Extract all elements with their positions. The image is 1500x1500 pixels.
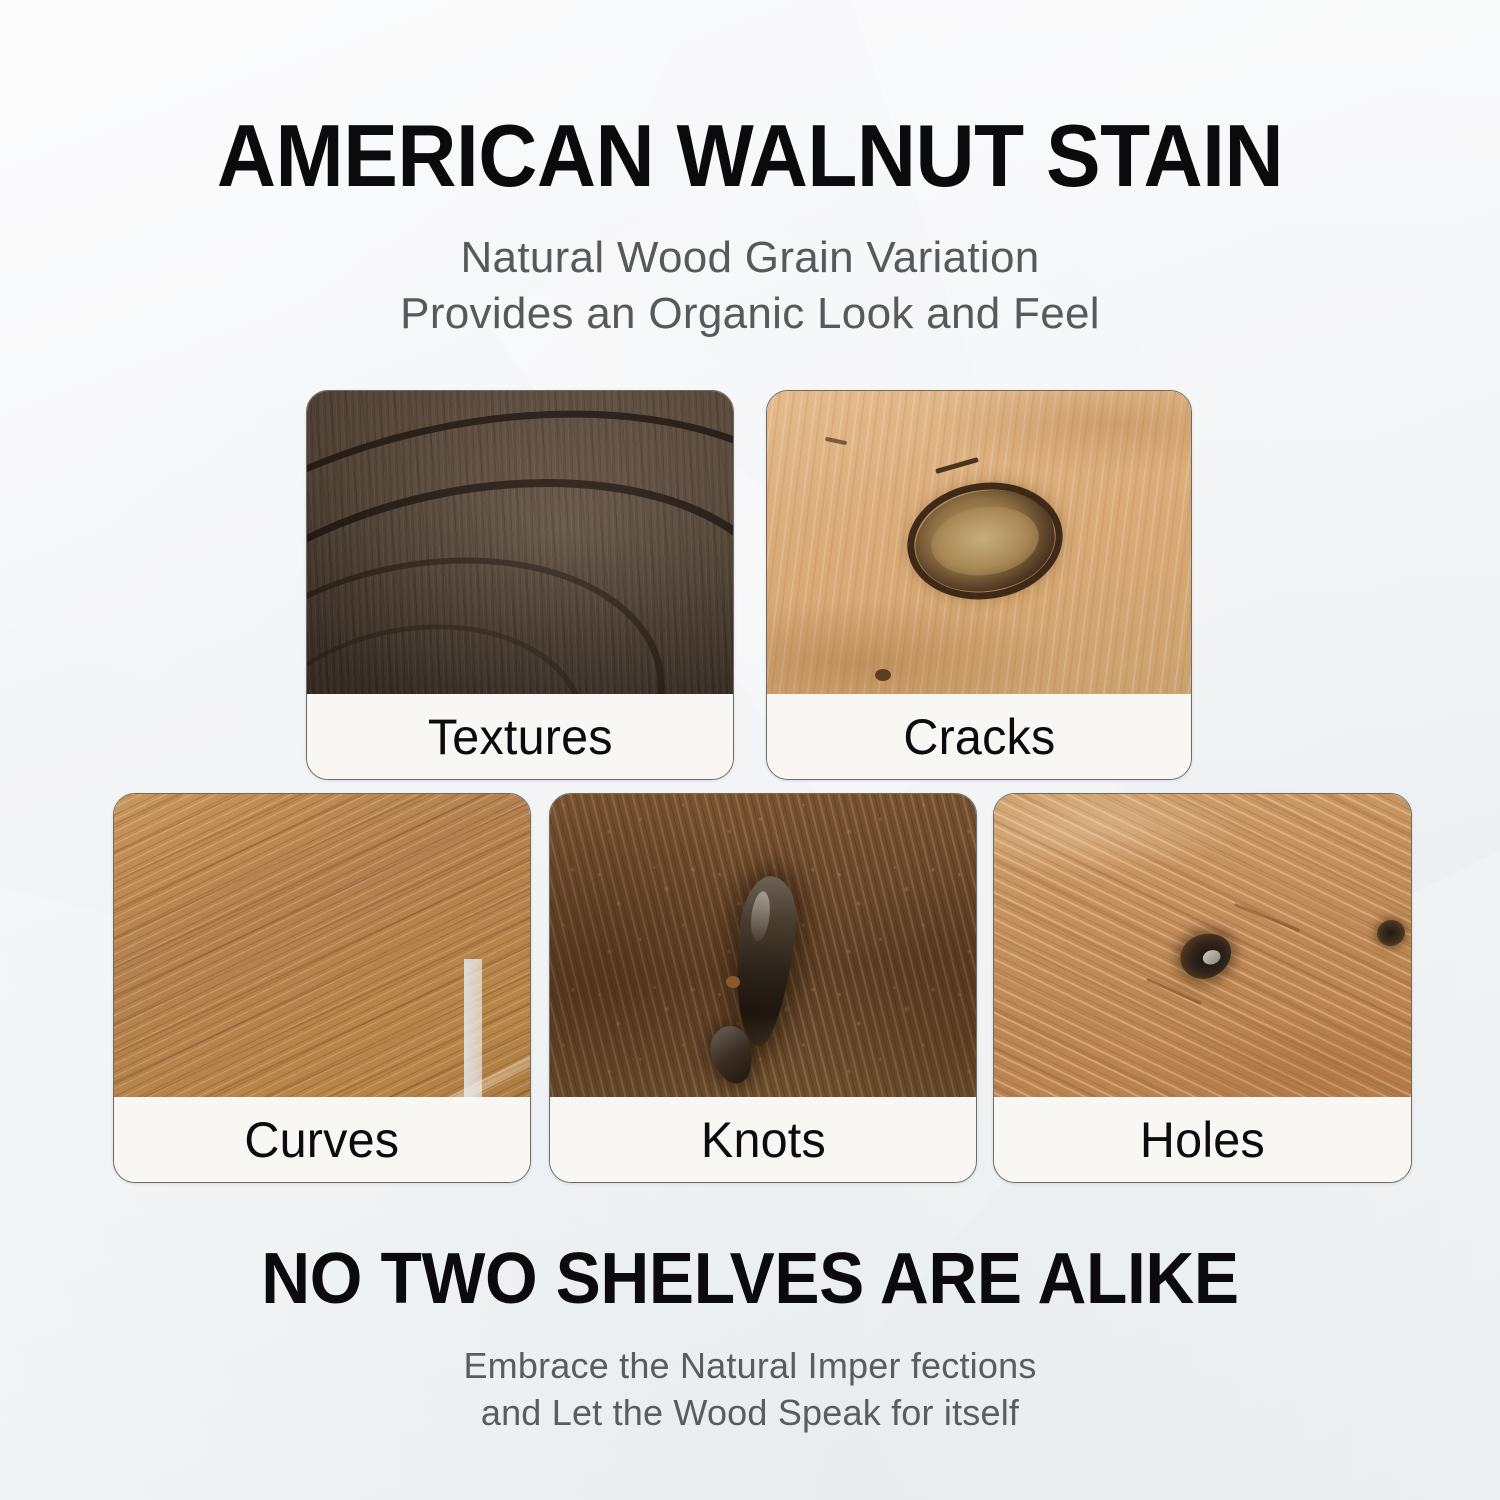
card-caption-textures: Textures (307, 694, 733, 779)
card-caption-holes: Holes (994, 1097, 1411, 1182)
crack-mark (875, 669, 891, 681)
swatch-image-curves (114, 794, 530, 1099)
page-subtitle-line-2: Provides an Organic Look and Feel (0, 286, 1500, 342)
vignette-overlay (307, 391, 733, 696)
footer-subtitle: Embrace the Natural Imper fections and L… (0, 1315, 1500, 1437)
footer-block: NO TWO SHELVES ARE ALIKE Embrace the Nat… (0, 1243, 1500, 1437)
card-caption-cracks: Cracks (767, 694, 1191, 779)
page-subtitle-line-1: Natural Wood Grain Variation (0, 230, 1500, 286)
footer-subtitle-line-1: Embrace the Natural Imper fections (0, 1343, 1500, 1390)
feature-card-cracks[interactable]: Cracks (766, 390, 1192, 780)
feature-card-knots[interactable]: Knots (549, 793, 977, 1183)
swatch-image-cracks (767, 391, 1191, 696)
card-label-curves: Curves (245, 1111, 400, 1169)
card-label-knots: Knots (700, 1111, 825, 1169)
page-title: AMERICAN WALNUT STAIN (53, 0, 1448, 200)
swatch-image-knots (550, 794, 976, 1099)
header-block: AMERICAN WALNUT STAIN Natural Wood Grain… (0, 0, 1500, 343)
card-label-holes: Holes (1140, 1111, 1265, 1169)
swatch-image-holes (994, 794, 1411, 1099)
card-caption-knots: Knots (550, 1097, 976, 1182)
card-label-textures: Textures (428, 708, 613, 766)
knot-fleck (726, 976, 740, 988)
feature-card-holes[interactable]: Holes (993, 793, 1412, 1183)
card-caption-curves: Curves (114, 1097, 530, 1182)
page-subtitle: Natural Wood Grain Variation Provides an… (0, 200, 1500, 343)
card-label-cracks: Cracks (903, 708, 1055, 766)
feature-card-textures[interactable]: Textures (306, 390, 734, 780)
footer-title: NO TWO SHELVES ARE ALIKE (45, 1243, 1455, 1315)
feature-card-curves[interactable]: Curves (113, 793, 531, 1183)
swatch-image-textures (307, 391, 733, 696)
footer-subtitle-line-2: and Let the Wood Speak for itself (0, 1390, 1500, 1437)
shelf-leg (464, 959, 482, 1099)
product-infographic: AMERICAN WALNUT STAIN Natural Wood Grain… (0, 0, 1500, 1500)
